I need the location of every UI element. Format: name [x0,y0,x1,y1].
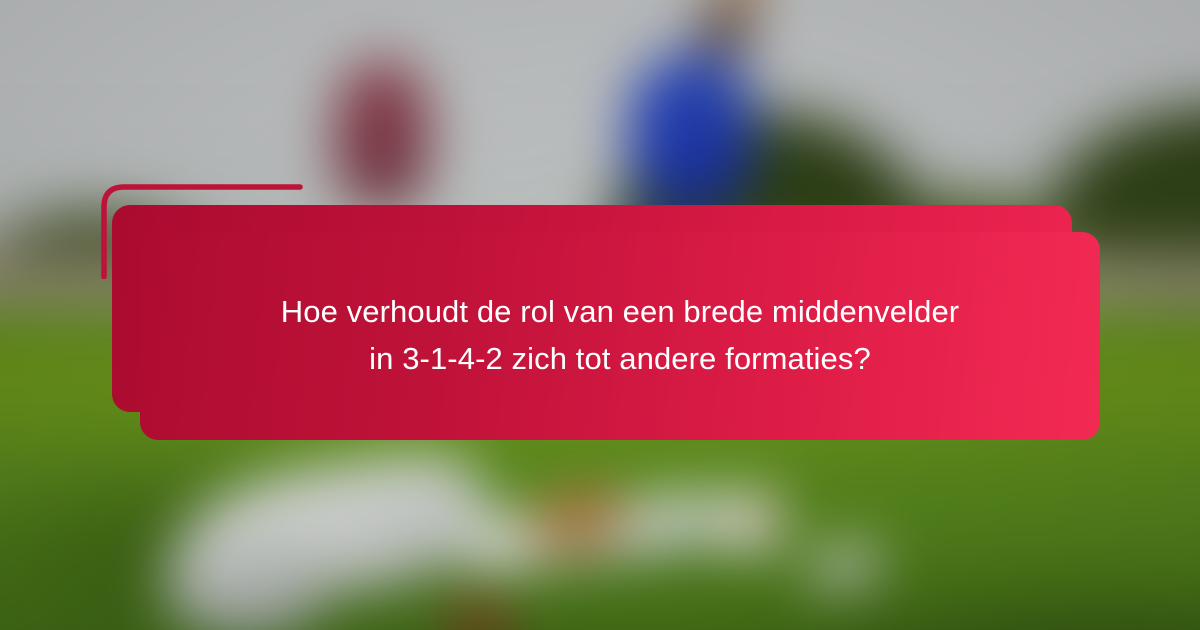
headline-line-2: in 3-1-4-2 zich tot andere formaties? [369,339,871,380]
headline-line-1: Hoe verhoudt de rol van een brede midden… [281,292,959,333]
social-card-image: Hoe verhoudt de rol van een brede midden… [0,0,1200,630]
headline-text-block: Hoe verhoudt de rol van een brede midden… [140,232,1100,440]
